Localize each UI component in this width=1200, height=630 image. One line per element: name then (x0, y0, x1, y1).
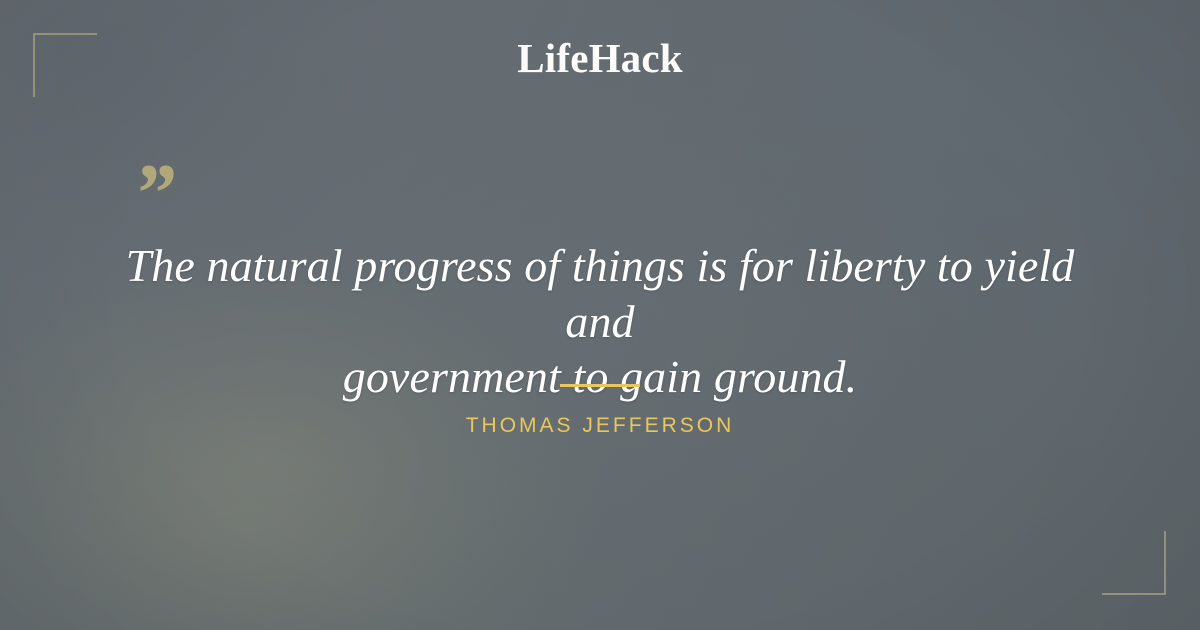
quote-line-1: The natural progress of things is for li… (100, 238, 1100, 349)
divider-container (0, 384, 1200, 402)
quote-block: The natural progress of things is for li… (100, 238, 1100, 405)
brand-logo: LifeHack (0, 38, 1200, 79)
quote-author: THOMAS JEFFERSON (466, 413, 735, 438)
quotation-mark-icon: ” (133, 152, 175, 236)
quote-card: LifeHack ” The natural progress of thing… (0, 0, 1200, 630)
attribution-container: THOMAS JEFFERSON (0, 413, 1200, 438)
corner-bracket-bottom-right-icon (1102, 531, 1166, 595)
brand-name: LifeHack (517, 38, 683, 79)
quote-text: The natural progress of things is for li… (100, 238, 1100, 405)
gold-divider-rule (560, 384, 640, 387)
